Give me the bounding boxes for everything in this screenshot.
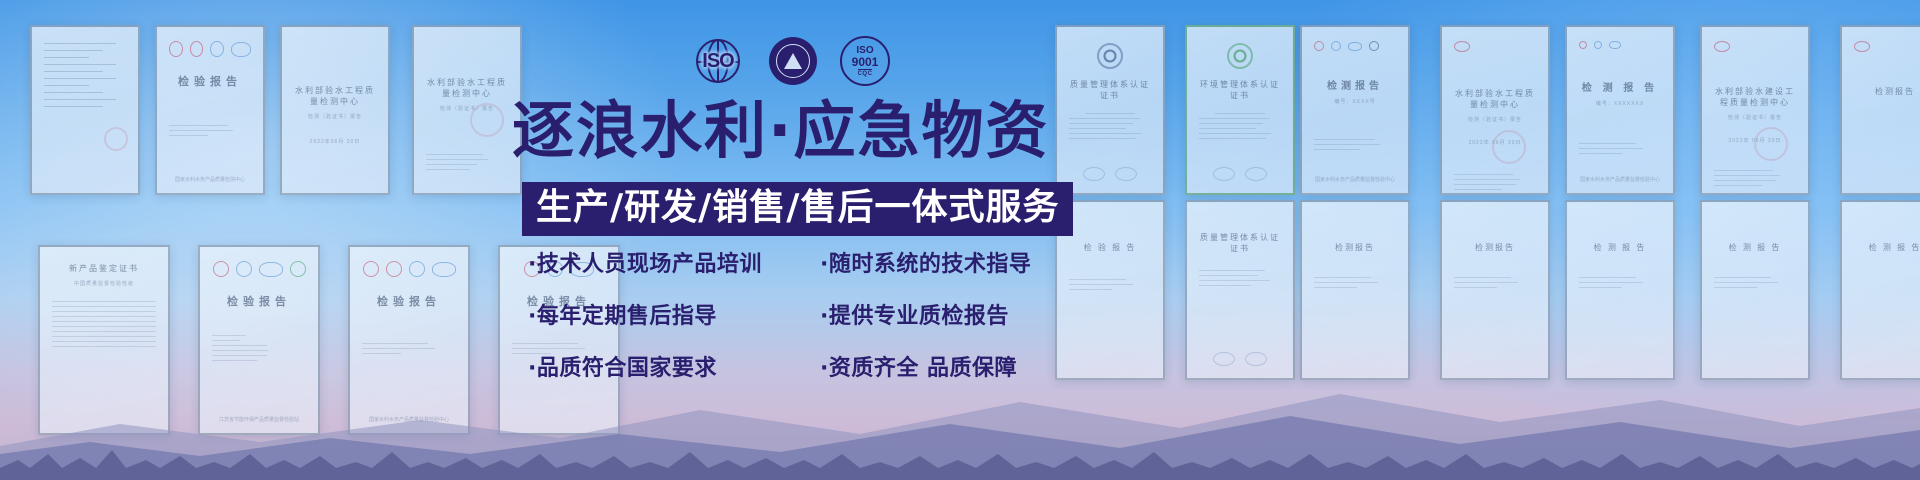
near-treeline [0, 450, 1920, 480]
accreditation-badges [1187, 167, 1293, 181]
cal-logo-icon [190, 41, 204, 57]
certificate-title: 水利部验水工程质量检测中心 [426, 77, 508, 99]
iaf-badge-icon [1245, 352, 1267, 366]
feature-item: ·每年定期售后指导 [528, 298, 806, 330]
cal-logo-icon [386, 261, 402, 277]
iaf-badge-icon [1245, 167, 1267, 181]
certificate-card: 水利部验水工程质量检测中心 检测（验证书）报告 2022年06月 20日 [280, 25, 390, 195]
certificate-card: 检 测 报 告 [1700, 200, 1810, 380]
certificate-footer: 江苏省节能环保产品质量监督检验站 [200, 416, 318, 423]
cnas-badge-icon [1213, 167, 1235, 181]
stamp-mark [1754, 127, 1788, 161]
certificate-title: 质量管理体系认证证书 [1199, 232, 1281, 254]
certificate-title: 环境管理体系认证证书 [1199, 79, 1281, 101]
cma-logo-icon [1348, 42, 1362, 51]
stamp-mark [470, 103, 504, 137]
cnas-badge-icon [1083, 167, 1105, 181]
cma-logo-icon [231, 42, 251, 57]
certification-seal-row: ISO ISO 9001 CQC [690, 33, 890, 89]
certificate-card: 水利部验水工程质量检测中心 检测（验证书）报告 [412, 25, 522, 195]
green-product-logo-icon [290, 261, 306, 277]
accreditation-badges [1057, 167, 1163, 181]
cnas-logo-icon [1331, 41, 1341, 51]
certificate-title: 检测报告 [1314, 77, 1396, 92]
certificate-card: 环境管理体系认证证书 [1185, 25, 1295, 195]
certificate-title: 检验报告 [212, 293, 306, 309]
certificate-footer: 国家水利水务产品质量监督检验中心 [1302, 176, 1408, 183]
seal-inner-ring [776, 44, 810, 78]
certificate-title: 水利部验水工程质量检测中心 [1454, 88, 1536, 110]
certificate-subtitle: 检测（验证书）报告 [294, 113, 376, 120]
certificate-card: 检测报告 [1840, 25, 1920, 195]
iso-globe-seal-icon: ISO [690, 37, 746, 85]
iaf-badge-icon [1115, 167, 1137, 181]
iso14000-environment-seal-icon [769, 37, 817, 85]
certificate-card: 检 测 报 告 [1840, 200, 1920, 380]
cert-logo-row [169, 41, 251, 57]
feature-item: ·提供专业质检报告 [820, 298, 1031, 330]
feature-item: ·资质齐全 品质保障 [820, 350, 1031, 382]
certificate-card: 质量管理体系认证证书 [1055, 25, 1165, 195]
cqc-logo-icon [1454, 41, 1470, 52]
certificate-title: 检测报告 [1454, 242, 1536, 253]
cnas-logo-icon [1594, 41, 1602, 49]
cqc-logo-icon [1714, 41, 1730, 52]
cma-logo-icon [432, 262, 456, 277]
certificate-card: 检测报告 [1440, 200, 1550, 380]
certificate-title: 检验报告 [169, 73, 251, 89]
promotional-banner: 检验报告 国家水利水务产品质量检测中心 水利部验水工程质量检测中心 检测（验证书… [0, 0, 1920, 480]
feature-item: ·技术人员现场产品培训 [528, 246, 806, 278]
cqc-logo-icon [363, 261, 379, 277]
certificate-card: 检验报告 国家水利水务产品质量检测中心 [155, 25, 265, 195]
certificate-card: 检 测 报 告 编号：XXXXXXX 国家水利水务产品质量监督检验中心 [1565, 25, 1675, 195]
cal-logo-icon [1314, 41, 1324, 51]
cma-logo-icon [1609, 41, 1621, 49]
stamp-mark [104, 127, 128, 151]
banner-subtitle-band: 生产/研发/销售/售后一体式服务 [522, 182, 1073, 236]
certificate-card: 检验报告 江苏省节能环保产品质量监督检验站 [198, 245, 320, 435]
iso-seal-label: ISO [702, 50, 733, 73]
cal-logo-icon [1579, 41, 1587, 49]
accreditation-badges [1187, 352, 1293, 366]
cma-logo-icon [259, 262, 283, 277]
certificate-title: 检验报告 [362, 293, 456, 309]
certificate-footer: 国家水利水务产品质量监督检验中心 [1567, 176, 1673, 183]
certificate-card: 水利部验水工程质量检测中心 检测（验证书）报告 2022年 06月 20日 [1440, 25, 1550, 195]
certificate-title: 质量管理体系认证证书 [1069, 79, 1151, 101]
certificate-subtitle: 中国质量监督检验检疫 [52, 280, 156, 287]
cnas-badge-icon [1213, 352, 1235, 366]
cqc-logo-icon [169, 41, 183, 57]
iso9001-bottom-label: 9001 [852, 56, 879, 68]
cnas-logo-icon [409, 261, 425, 277]
iso9001-top-label: ISO [856, 46, 873, 56]
certificate-title: 水利部验水工程质量检测中心 [294, 85, 376, 107]
quality-emblem-icon [1097, 43, 1123, 69]
certificate-card [30, 25, 140, 195]
certificate-card: 检测报告 [1300, 200, 1410, 380]
cqc-label: CQC [858, 69, 873, 77]
iso9001-cqc-seal-icon: ISO 9001 CQC [840, 36, 890, 86]
certificate-title: 检测报告 [1314, 242, 1396, 253]
feature-item: ·品质符合国家要求 [528, 350, 806, 382]
feature-list: ·技术人员现场产品培训 ·随时系统的技术指导 ·每年定期售后指导 ·提供专业质检… [528, 246, 1031, 382]
feature-item: ·随时系统的技术指导 [820, 246, 1031, 278]
banner-headline: 逐浪水利·应急物资 [512, 100, 1050, 162]
certificate-footer: 国家水利水务产品质量监督检验中心 [350, 416, 468, 423]
certificate-subtitle: 检测（验证书）报告 [1454, 116, 1536, 123]
cnas-logo-icon [210, 41, 224, 57]
certificate-card: 水利部验水建设工程质量检测中心 检测（验证书）报告 2022年 06月 20日 [1700, 25, 1810, 195]
certificate-card: 新产品鉴定证书 中国质量监督检验检疫 [38, 245, 170, 435]
certificate-title: 新产品鉴定证书 [52, 263, 156, 274]
cqc-logo-icon [1369, 41, 1379, 51]
cqc-logo-icon [1854, 41, 1870, 52]
certificate-card: 检验报告 国家水利水务产品质量监督检验中心 [348, 245, 470, 435]
environment-emblem-icon [1227, 43, 1253, 69]
certificate-card: 检测报告 编号：XXXX号 国家水利水务产品质量监督检验中心 [1300, 25, 1410, 195]
certificate-card: 质量管理体系认证证书 [1185, 200, 1295, 380]
cqc-logo-icon [213, 261, 229, 277]
cnas-logo-icon [236, 261, 252, 277]
certificate-footer: 国家水利水务产品质量检测中心 [157, 176, 263, 183]
certificate-card: 检 测 报 告 [1565, 200, 1675, 380]
stamp-mark [1492, 130, 1526, 164]
